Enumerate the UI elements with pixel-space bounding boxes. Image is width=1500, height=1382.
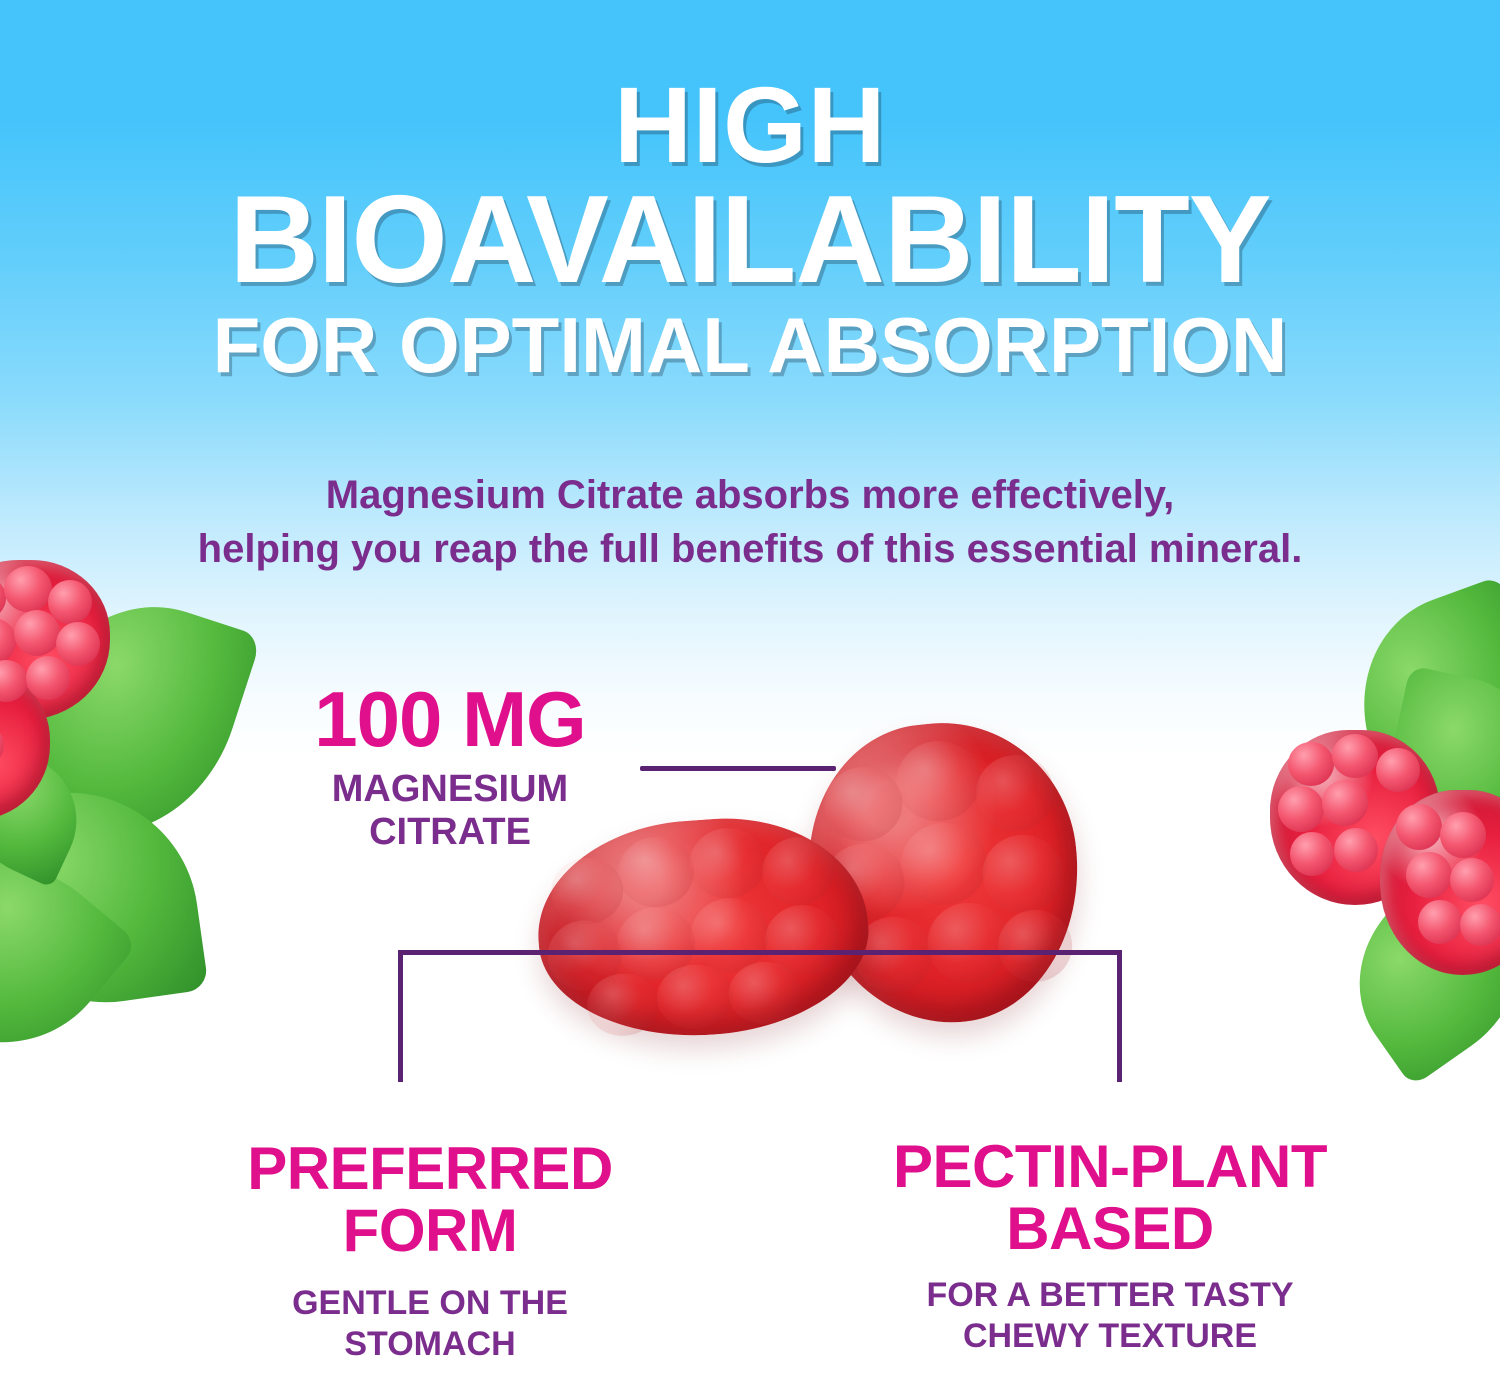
subtitle-line-1: Magnesium Citrate absorbs more effective… bbox=[0, 468, 1500, 522]
callout-preferred-form: PREFERRED FORM GENTLE ON THE STOMACH bbox=[150, 1138, 710, 1366]
raspberry-drupe bbox=[1396, 804, 1442, 850]
infographic-canvas: HIGH BIOAVAILABILITY FOR OPTIMAL ABSORPT… bbox=[0, 0, 1500, 1382]
raspberry-drupe bbox=[1460, 904, 1500, 946]
raspberry-drupe bbox=[1450, 858, 1494, 902]
callout-pectin-plant-based: PECTIN-PLANT BASED FOR A BETTER TASTY CH… bbox=[830, 1136, 1390, 1358]
headline-line-2: BIOAVAILABILITY bbox=[0, 180, 1500, 302]
headline-block: HIGH BIOAVAILABILITY FOR OPTIMAL ABSORPT… bbox=[0, 72, 1500, 384]
leader-line-dosage bbox=[640, 766, 836, 771]
bracket-horizontal-bar bbox=[398, 950, 1122, 955]
headline-line-1: HIGH bbox=[0, 72, 1500, 178]
callout-left-sub-line-2: STOMACH bbox=[150, 1324, 710, 1365]
raspberry-drupe bbox=[1290, 832, 1334, 876]
callout-right-title-line-2: BASED bbox=[830, 1198, 1390, 1260]
bracket-connector bbox=[398, 950, 1122, 1082]
raspberry-mint-decoration-right bbox=[1260, 590, 1500, 1010]
dosage-sub-line-2: CITRATE bbox=[250, 811, 650, 854]
gummy-lobe bbox=[821, 763, 906, 845]
gummy-lobe bbox=[892, 737, 984, 825]
raspberry-mint-decoration-left bbox=[0, 560, 290, 1060]
callout-right-title-line-1: PECTIN-PLANT bbox=[830, 1136, 1390, 1198]
callout-left-title-line-1: PREFERRED bbox=[150, 1138, 710, 1200]
callout-right-subtitle: FOR A BETTER TASTY CHEWY TEXTURE bbox=[830, 1275, 1390, 1358]
raspberry-drupe bbox=[1288, 742, 1334, 786]
raspberry-drupe bbox=[1418, 900, 1462, 944]
gummy-lobe bbox=[687, 826, 768, 901]
callout-left-sub-line-1: GENTLE ON THE bbox=[150, 1283, 710, 1324]
bracket-left-drop bbox=[398, 950, 403, 1082]
raspberry-drupe bbox=[1406, 852, 1452, 898]
callout-right-sub-line-2: CHEWY TEXTURE bbox=[830, 1316, 1390, 1357]
callout-right-title: PECTIN-PLANT BASED bbox=[830, 1136, 1390, 1261]
dosage-sub-line-1: MAGNESIUM bbox=[250, 768, 650, 811]
dosage-value: 100 MG bbox=[250, 680, 650, 758]
headline-line-3: FOR OPTIMAL ABSORPTION bbox=[0, 307, 1500, 383]
callout-dosage: 100 MG MAGNESIUM CITRATE bbox=[250, 680, 650, 853]
raspberry-drupe bbox=[1440, 812, 1486, 858]
gummy-lobe bbox=[897, 819, 991, 910]
gummy-lobe bbox=[979, 831, 1067, 917]
bracket-right-drop bbox=[1117, 950, 1122, 1082]
raspberry-drupe bbox=[4, 566, 52, 612]
raspberry-drupe bbox=[1332, 734, 1378, 778]
callout-left-title-line-2: FORM bbox=[150, 1200, 710, 1262]
raspberry-drupe bbox=[1278, 786, 1324, 832]
callout-right-sub-line-1: FOR A BETTER TASTY bbox=[830, 1275, 1390, 1316]
raspberry-drupe bbox=[1334, 828, 1378, 872]
raspberry-drupe bbox=[26, 656, 70, 700]
raspberry-drupe bbox=[1322, 780, 1368, 826]
raspberry-drupe bbox=[14, 610, 60, 656]
dosage-subtitle: MAGNESIUM CITRATE bbox=[250, 768, 650, 853]
callout-left-title: PREFERRED FORM bbox=[150, 1138, 710, 1263]
raspberry-drupe bbox=[56, 622, 100, 666]
raspberry-drupe bbox=[1376, 748, 1420, 792]
callout-left-subtitle: GENTLE ON THE STOMACH bbox=[150, 1283, 710, 1366]
gummy-lobe bbox=[549, 856, 625, 927]
gummy-lobe bbox=[972, 751, 1058, 835]
